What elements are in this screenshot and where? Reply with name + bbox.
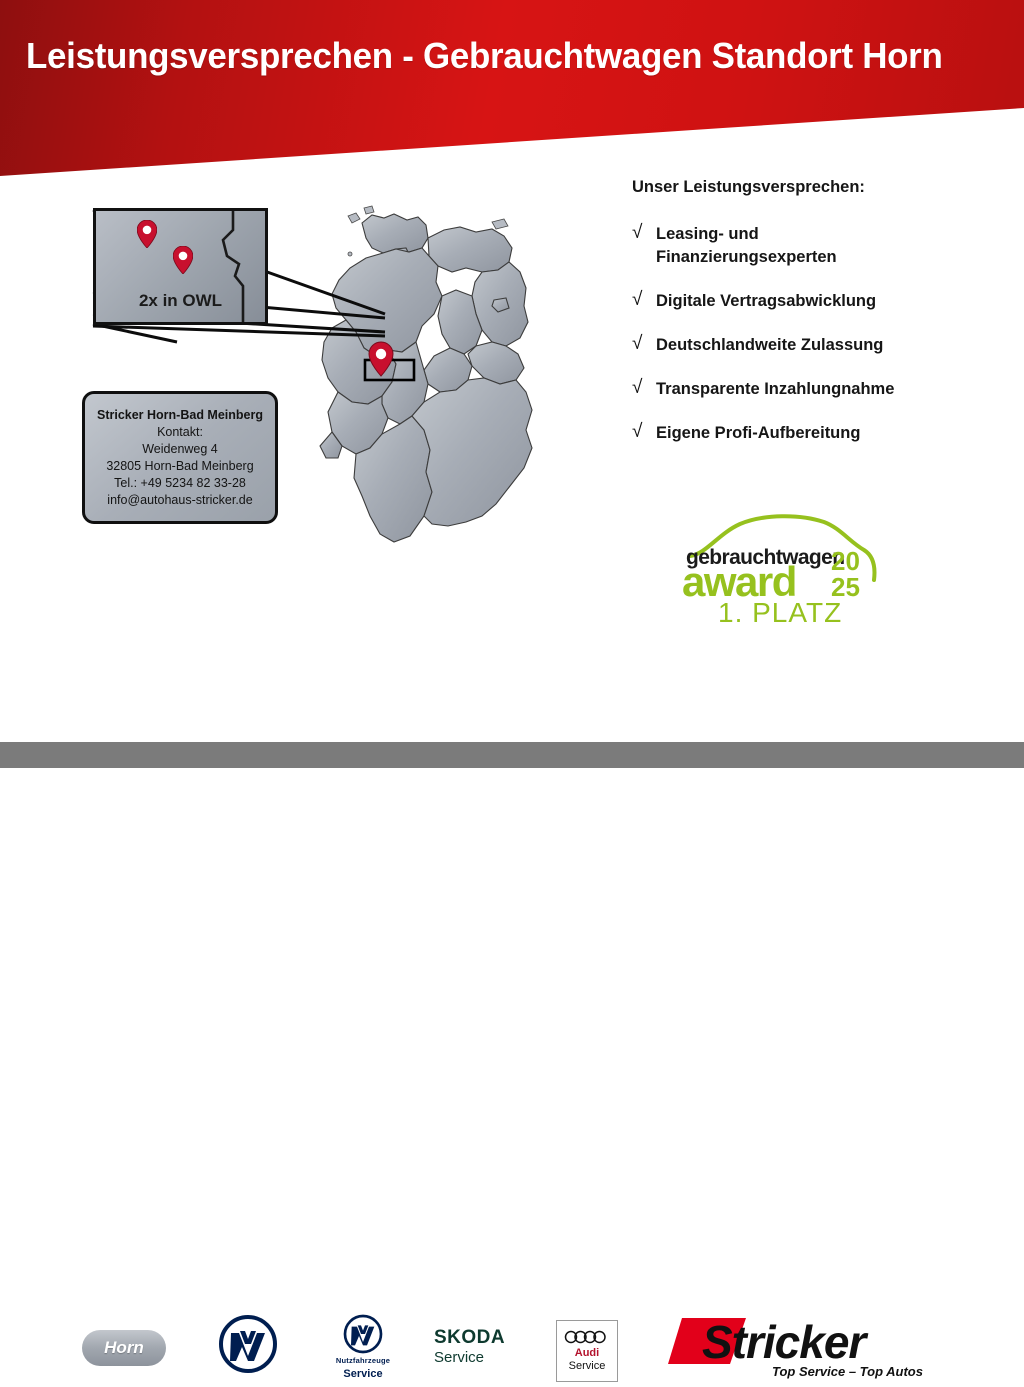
promise-text: Deutschlandweite Zulassung (656, 334, 883, 357)
promise-line: Leasing- und (656, 223, 837, 246)
location-pin-icon (137, 220, 157, 248)
stricker-wordmark: Stricker (702, 1316, 868, 1368)
promise-item: √ Eigene Profi-Aufbereitung (632, 422, 1012, 445)
promise-line: Finanzierungsexperten (656, 246, 837, 269)
contact-email: info@autohaus-stricker.de (107, 492, 252, 509)
check-icon: √ (632, 378, 656, 398)
contact-phone: Tel.: +49 5234 82 33-28 (114, 475, 246, 492)
promises-panel: Unser Leistungsversprechen: √ Leasing- u… (632, 178, 1012, 466)
volkswagen-logo-icon (218, 1314, 278, 1374)
contact-street: Weidenweg 4 (142, 441, 218, 458)
contact-card: Stricker Horn-Bad Meinberg Kontakt: Weid… (82, 391, 278, 524)
audi-service-text: Service (569, 1360, 606, 1373)
header-banner: Leistungsversprechen - Gebrauchtwagen St… (0, 0, 1024, 180)
promise-text: Digitale Vertragsabwicklung (656, 290, 876, 313)
check-icon: √ (632, 223, 656, 243)
gebrauchtwagen-award-logo: gebrauchtwagen award 20 25 1. PLATZ (678, 508, 893, 626)
check-icon: √ (632, 422, 656, 442)
promise-text: Eigene Profi-Aufbereitung (656, 422, 860, 445)
bottom-gray-bar (0, 742, 1024, 768)
contact-city: 32805 Horn-Bad Meinberg (106, 458, 253, 475)
check-icon: √ (632, 290, 656, 310)
owl-inset-map: 2x in OWL (93, 208, 268, 325)
promise-text: Transparente Inzahlungnahme (656, 378, 894, 401)
audi-wordmark: Audi (575, 1347, 599, 1360)
skoda-wordmark: SKODA (434, 1328, 534, 1348)
header-red-shape (0, 0, 1024, 180)
germany-map (276, 196, 576, 626)
location-pin-icon (173, 246, 193, 274)
promise-item: √ Digitale Vertragsabwicklung (632, 290, 1012, 313)
volkswagen-logo-icon (343, 1314, 383, 1354)
vw-nfz-line2: Service (330, 1368, 396, 1380)
partner-logo-row: Horn Nutzfahrzeuge Service SKODA Service (0, 652, 1024, 740)
vw-nfz-line1: Nutzfahrzeuge (330, 1356, 396, 1365)
inset-map-label: 2x in OWL (93, 291, 268, 311)
audi-rings-icon (564, 1330, 610, 1344)
promise-item: √ Leasing- und Finanzierungsexperten (632, 223, 1012, 269)
promise-item: √ Transparente Inzahlungnahme (632, 378, 1012, 401)
stricker-tagline: Top Service – Top Autos (772, 1364, 923, 1379)
page-title: Leistungsversprechen - Gebrauchtwagen St… (26, 34, 943, 78)
promises-heading: Unser Leistungsversprechen: (632, 178, 1012, 197)
horn-logo: Horn (82, 1330, 166, 1366)
check-icon: √ (632, 334, 656, 354)
promise-text: Leasing- und Finanzierungsexperten (656, 223, 837, 269)
contact-name: Stricker Horn-Bad Meinberg (97, 407, 263, 424)
vw-nutzfahrzeuge-service-logo: Nutzfahrzeuge Service (330, 1314, 396, 1386)
stricker-logo: Stricker Top Service – Top Autos (668, 1312, 948, 1382)
promise-item: √ Deutschlandweite Zulassung (632, 334, 1012, 357)
skoda-service-text: Service (434, 1348, 534, 1367)
audi-service-logo: Audi Service (556, 1320, 618, 1382)
skoda-service-logo: SKODA Service (434, 1328, 534, 1367)
award-rank: 1. PLATZ (718, 597, 842, 626)
slide-root: Leistungsversprechen - Gebrauchtwagen St… (0, 0, 1024, 768)
horn-logo-text: Horn (104, 1338, 144, 1358)
contact-kontakt-label: Kontakt: (157, 424, 203, 441)
